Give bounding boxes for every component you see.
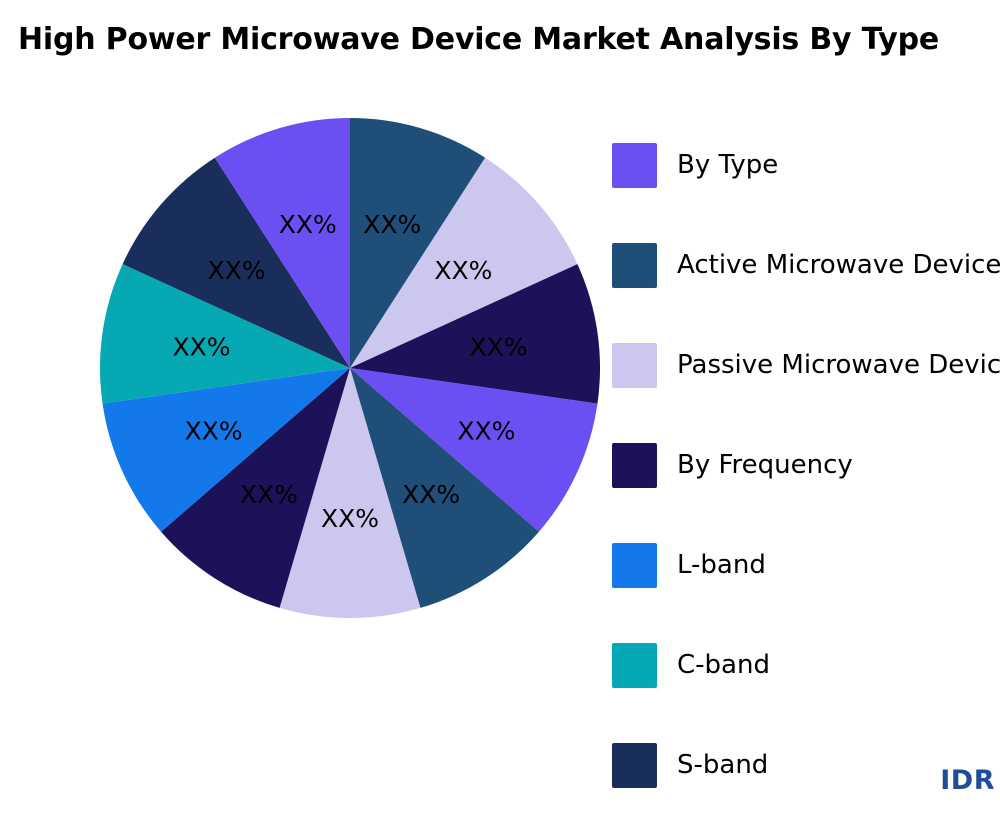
legend-color-swatch — [612, 243, 657, 288]
pie-slice-label: XX% — [172, 333, 230, 362]
legend-color-swatch — [612, 443, 657, 488]
legend-color-swatch — [612, 643, 657, 688]
legend-color-swatch — [612, 543, 657, 588]
legend-item[interactable]: By Type — [612, 115, 1000, 215]
watermark: IDR — [940, 765, 995, 796]
pie-slice-label: XX% — [279, 210, 337, 239]
legend-item[interactable]: L-band — [612, 515, 1000, 615]
pie-slice-label: XX% — [363, 210, 421, 239]
legend-item[interactable]: By Frequency — [612, 415, 1000, 515]
page-title: High Power Microwave Device Market Analy… — [18, 22, 939, 57]
pie-slice-label: XX% — [185, 416, 243, 445]
legend-item-label: C-band — [677, 650, 770, 680]
legend: By TypeActive Microwave DevicePassive Mi… — [612, 115, 1000, 815]
pie-slice-label: XX% — [321, 504, 379, 533]
legend-item[interactable]: Active Microwave Device — [612, 215, 1000, 315]
legend-item[interactable]: C-band — [612, 615, 1000, 715]
pie-slice-label: XX% — [208, 256, 266, 285]
pie-slice-label: XX% — [457, 416, 515, 445]
pie-slice-label: XX% — [240, 480, 298, 509]
legend-item-label: L-band — [677, 550, 766, 580]
legend-item-label: S-band — [677, 750, 768, 780]
legend-color-swatch — [612, 143, 657, 188]
pie-chart-svg: XX%XX%XX%XX%XX%XX%XX%XX%XX%XX%XX% — [100, 118, 600, 618]
legend-item-label: By Frequency — [677, 450, 853, 480]
pie-slice-label: XX% — [402, 480, 460, 509]
legend-color-swatch — [612, 743, 657, 788]
pie-slice-label: XX% — [469, 333, 527, 362]
pie-slice-label: XX% — [434, 256, 492, 285]
legend-color-swatch — [612, 343, 657, 388]
legend-item-label: Active Microwave Device — [677, 250, 1000, 280]
legend-item-label: By Type — [677, 150, 778, 180]
legend-item[interactable]: Passive Microwave Device — [612, 315, 1000, 415]
pie-chart: XX%XX%XX%XX%XX%XX%XX%XX%XX%XX%XX% — [100, 118, 600, 618]
legend-item-label: Passive Microwave Device — [677, 350, 1000, 380]
